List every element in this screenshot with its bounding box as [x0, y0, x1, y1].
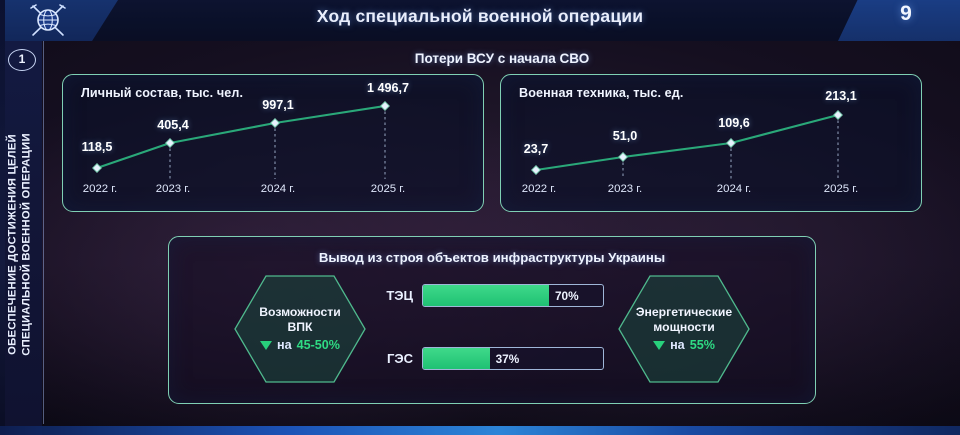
- chart-plot-equipment: 23,7 51,0 109,6 213,1 2022 г. 2023 г. 20…: [501, 75, 921, 211]
- hexagon-mic-capacity[interactable]: Возможности ВПК на 45-50%: [232, 273, 368, 385]
- data-label-equipment-2025: 213,1: [825, 89, 857, 103]
- progress-row-ges: ГЭС 37%: [375, 347, 604, 370]
- sidebar: 1 ОБЕСПЕЧЕНИЕ ДОСТИЖЕНИЯ ЦЕЛЕЙ СПЕЦИАЛЬН…: [0, 41, 42, 435]
- hexagon-energy-value: 55%: [690, 338, 715, 353]
- x-tick-personnel-2025: 2025 г.: [371, 183, 405, 195]
- chart-panel-personnel: Личный состав, тыс. чел. 118,5 405,4 997…: [62, 74, 484, 212]
- x-tick-equipment-2025: 2025 г.: [824, 183, 858, 195]
- progress-track-ges[interactable]: 37%: [422, 347, 604, 370]
- progress-row-tec: ТЭЦ 70%: [375, 284, 604, 307]
- hexagon-mic-name-line1: Возможности: [259, 305, 341, 320]
- hexagon-energy-capacity[interactable]: Энергетические мощности на 55%: [616, 273, 752, 385]
- x-tick-equipment-2022: 2022 г.: [522, 183, 556, 195]
- hexagon-energy-name-line1: Энергетические: [636, 305, 732, 320]
- slide-root: Ход специальной военной операции 9 1 ОБЕ…: [0, 0, 960, 435]
- section-heading: Потери ВСУ с начала СВО: [44, 51, 960, 66]
- progress-label-ges: ГЭС: [375, 351, 413, 366]
- x-tick-equipment-2024: 2024 г.: [717, 183, 751, 195]
- infrastructure-panel: Вывод из строя объектов инфраструктуры У…: [168, 236, 816, 404]
- chart-plot-personnel: 118,5 405,4 997,1 1 496,7 2022 г. 2023 г…: [63, 75, 483, 211]
- x-tick-personnel-2023: 2023 г.: [156, 183, 190, 195]
- page-number: 9: [852, 2, 960, 26]
- x-tick-personnel-2024: 2024 г.: [261, 183, 295, 195]
- sidebar-vertical-label: ОБЕСПЕЧЕНИЕ ДОСТИЖЕНИЯ ЦЕЛЕЙ СПЕЦИАЛЬНОЙ…: [7, 65, 34, 425]
- data-label-equipment-2022: 23,7: [524, 142, 549, 156]
- x-tick-equipment-2023: 2023 г.: [608, 183, 642, 195]
- data-label-equipment-2023: 51,0: [613, 129, 638, 143]
- x-tick-personnel-2022: 2022 г.: [83, 183, 117, 195]
- progress-fill-tec: [423, 285, 549, 306]
- hexagon-energy-prefix: на: [670, 338, 685, 353]
- data-label-equipment-2024: 109,6: [718, 116, 750, 130]
- screen-bottom-light-strip: [0, 426, 960, 435]
- sidebar-divider: [43, 41, 44, 424]
- page-title: Ход специальной военной операции: [0, 6, 960, 27]
- hexagon-energy-delta: на 55%: [653, 338, 715, 353]
- progress-track-tec[interactable]: 70%: [422, 284, 604, 307]
- progress-value-ges: 37%: [496, 348, 520, 369]
- hexagon-mic-name-line2: ВПК: [288, 320, 313, 335]
- header-band: Ход специальной военной операции 9: [0, 0, 960, 41]
- progress-fill-ges: [423, 348, 490, 369]
- progress-label-tec: ТЭЦ: [375, 288, 413, 303]
- chart-panel-equipment: Военная техника, тыс. ед. 23,7 51,0 109,…: [500, 74, 922, 212]
- progress-value-tec: 70%: [555, 285, 579, 306]
- triangle-down-icon: [653, 341, 665, 350]
- triangle-down-icon: [260, 341, 272, 350]
- hexagon-mic-value: 45-50%: [297, 338, 340, 353]
- hexagon-mic-prefix: на: [277, 338, 292, 353]
- infrastructure-panel-title: Вывод из строя объектов инфраструктуры У…: [169, 250, 815, 265]
- data-label-personnel-2022: 118,5: [82, 140, 113, 154]
- data-label-personnel-2025: 1 496,7: [367, 81, 409, 95]
- screen-edge-left: [0, 0, 5, 435]
- hexagon-energy-name-line2: мощности: [653, 320, 714, 335]
- hexagon-mic-delta: на 45-50%: [260, 338, 340, 353]
- data-label-personnel-2023: 405,4: [157, 118, 189, 132]
- data-label-personnel-2024: 997,1: [262, 98, 294, 112]
